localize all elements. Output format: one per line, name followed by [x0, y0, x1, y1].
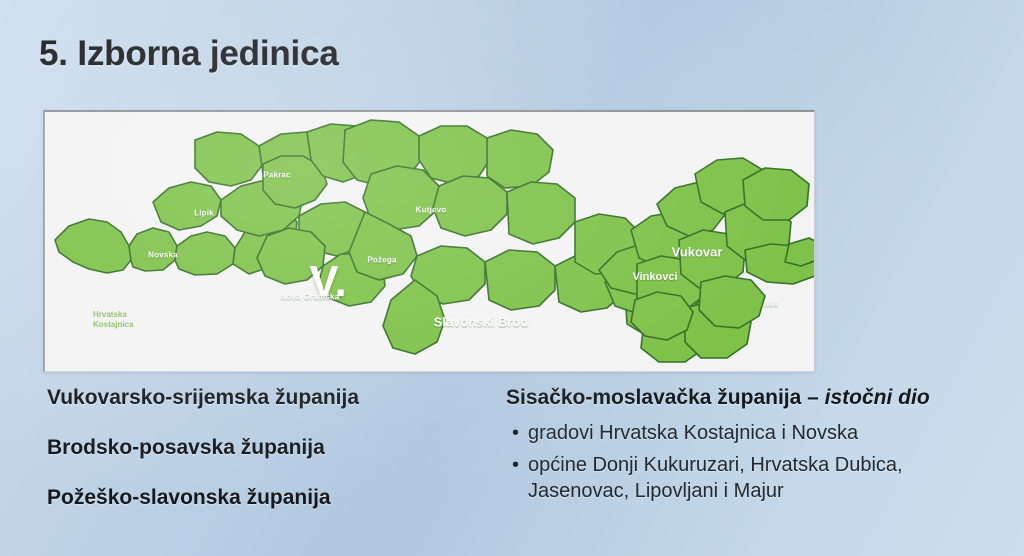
map-subregion: [433, 176, 507, 236]
list-item-text: općine Donji Kukuruzari, Hrvatska Dubica…: [528, 452, 1006, 504]
map-subregion: [419, 126, 491, 184]
bullet-icon: •: [506, 420, 528, 446]
map-subregion: [507, 182, 575, 244]
right-heading-italic: istočni dio: [825, 386, 930, 409]
slide-canvas: 5. Izborna jedinica: [0, 0, 1024, 556]
map-subregion: [153, 182, 221, 230]
map-subregion: [485, 250, 555, 310]
map-panel: V. Novska Lipik Pakrac Nova Gradiška Pož…: [43, 110, 815, 372]
right-heading-main: Sisačko-moslavačka županija –: [506, 386, 825, 409]
map-subregion: [257, 228, 325, 284]
map-graphic: [45, 112, 815, 372]
county-item: Požeško-slavonska županija: [47, 486, 477, 510]
map-region-group: [55, 120, 815, 362]
map-subregion: [175, 232, 235, 275]
list-item: • gradovi Hrvatska Kostajnica i Novska: [506, 420, 1006, 446]
map-subregion: [699, 276, 765, 328]
list-item: • općine Donji Kukuruzari, Hrvatska Dubi…: [506, 452, 1006, 504]
county-item: Vukovarsko-srijemska županija: [47, 386, 477, 410]
map-subregion: [55, 219, 131, 273]
list-item-text: gradovi Hrvatska Kostajnica i Novska: [528, 420, 858, 446]
counties-left-column: Vukovarsko-srijemska županija Brodsko-po…: [47, 386, 477, 536]
map-subregion: [195, 132, 263, 186]
county-item: Brodsko-posavska županija: [47, 436, 477, 460]
map-subregion: [743, 168, 809, 220]
right-column-heading: Sisačko-moslavačka županija – istočni di…: [506, 386, 1006, 410]
map-subregion: [487, 130, 553, 188]
page-title: 5. Izborna jedinica: [39, 34, 339, 74]
bullet-icon: •: [506, 452, 528, 478]
counties-right-column: Sisačko-moslavačka županija – istočni di…: [506, 386, 1006, 510]
map-subregion: [129, 228, 177, 271]
